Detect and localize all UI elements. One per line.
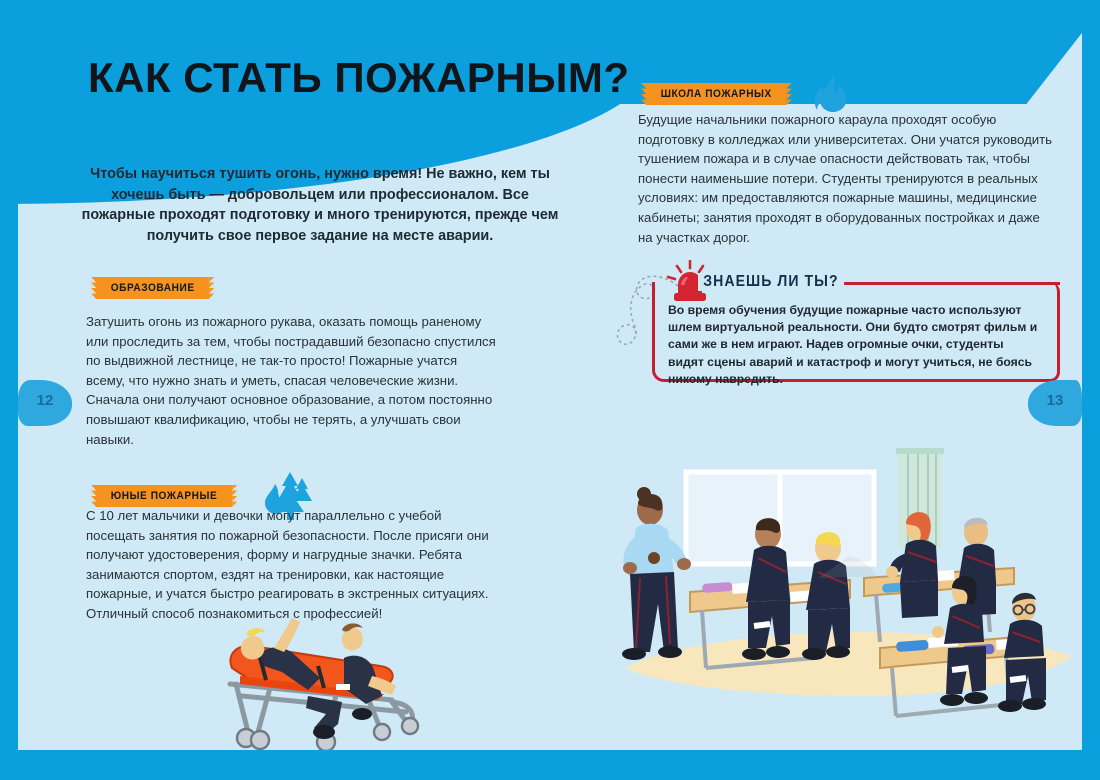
section-text-school: Будущие начальники пожарного караула про…: [638, 110, 1058, 247]
teacher-figure: [622, 487, 691, 660]
page-number-right-label: 13: [1028, 392, 1082, 409]
student-middle-left: [886, 512, 938, 618]
did-you-know-callout: ЗНАЕШЬ ЛИ ТЫ? Во время обучения будущие …: [630, 262, 1060, 384]
page-number-left: 12: [18, 380, 72, 426]
classroom-illustration: [614, 432, 1082, 732]
section-heading-education: ОБРАЗОВАНИЕ: [96, 277, 219, 299]
student-back-right: [998, 593, 1046, 712]
intro-paragraph: Чтобы научиться тушить огонь, нужно врем…: [80, 164, 560, 246]
page-number-left-label: 12: [18, 392, 72, 409]
ribbon-label-school: ШКОЛА ПОЖАРНЫХ: [646, 83, 787, 105]
section-text-education: Затушить огонь из пожарного рукава, оказ…: [86, 312, 498, 449]
callout-title: ЗНАЕШЬ ЛИ ТЫ?: [698, 273, 844, 291]
section-heading-school: ШКОЛА ПОЖАРНЫХ: [646, 76, 847, 112]
page-area: КАК СТАТЬ ПОЖАРНЫМ? 12 13 Чтобы научитьс…: [18, 14, 1082, 750]
flame-icon: [813, 76, 847, 112]
page-title: КАК СТАТЬ ПОЖАРНЫМ?: [88, 54, 630, 102]
callout-text: Во время обучения будущие пожарные часто…: [668, 302, 1040, 388]
page-number-right: 13: [1028, 380, 1082, 426]
book-spread: КАК СТАТЬ ПОЖАРНЫМ? 12 13 Чтобы научитьс…: [0, 0, 1100, 780]
ribbon-label-young: ЮНЫЕ ПОЖАРНЫЕ: [96, 485, 232, 507]
ribbon-label-education: ОБРАЗОВАНИЕ: [96, 277, 209, 299]
stretcher-illustration: [196, 592, 486, 750]
